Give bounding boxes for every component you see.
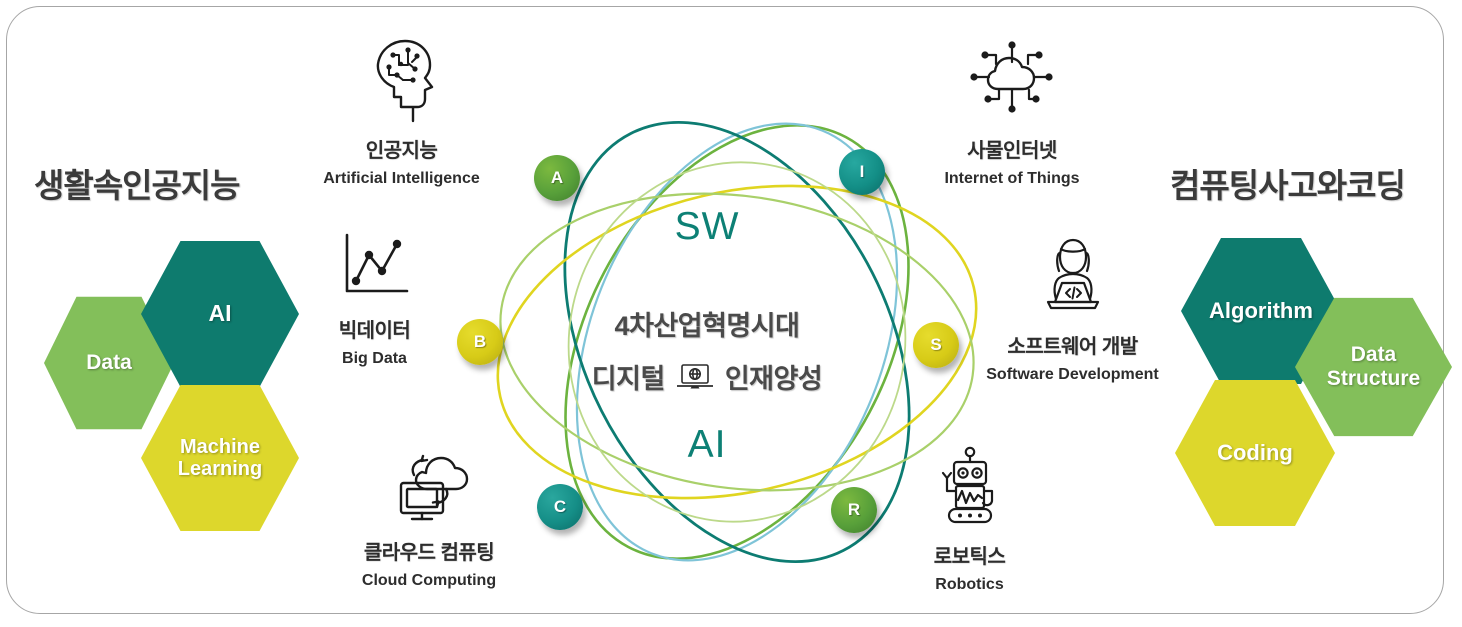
infographic-frame: 생활속인공지능 컴퓨팅사고와코딩 Data AI Machine Learnin… bbox=[6, 6, 1444, 614]
hexagon-algorithm-label: Algorithm bbox=[1209, 299, 1313, 324]
hexagon-machine-learning-label-1: Machine bbox=[178, 436, 262, 458]
keyword-big-data: 빅데이터 Big Data bbox=[307, 229, 442, 368]
cloud-monitor-icon bbox=[339, 445, 519, 530]
hexagon-machine-learning-label-2: Learning bbox=[178, 458, 262, 480]
hexagon-coding-label: Coding bbox=[1217, 441, 1293, 466]
keyword-cloud-label-en: Cloud Computing bbox=[339, 572, 519, 590]
orbit-node-i[interactable]: I bbox=[839, 149, 885, 195]
hexagon-data-label: Data bbox=[86, 351, 132, 375]
infographic-stage: 생활속인공지능 컴퓨팅사고와코딩 Data AI Machine Learnin… bbox=[7, 7, 1443, 613]
developer-laptop-icon bbox=[965, 235, 1180, 324]
keyword-sw-label-en: Software Development bbox=[965, 366, 1180, 384]
keyword-cloud-computing: 클라우드 컴퓨팅 Cloud Computing bbox=[339, 445, 519, 590]
keyword-iot-label-en: Internet of Things bbox=[917, 170, 1107, 188]
keyword-robot-label-ko: 로보틱스 bbox=[897, 540, 1042, 569]
center-headline-line2: 디지털 인재양성 bbox=[527, 357, 887, 396]
keyword-robotics: 로보틱스 Robotics bbox=[897, 445, 1042, 594]
orbit-node-c[interactable]: C bbox=[537, 484, 583, 530]
center-headline-line2-pre: 디지털 bbox=[592, 357, 665, 396]
hexagon-ai-label: AI bbox=[209, 301, 232, 327]
center-label-ai: AI bbox=[627, 423, 787, 467]
hexagon-data-structure-label-1: Data bbox=[1327, 343, 1420, 367]
keyword-bigdata-label-en: Big Data bbox=[307, 350, 442, 368]
head-circuit-icon bbox=[299, 37, 504, 128]
hexagon-coding: Coding bbox=[1175, 377, 1335, 529]
keyword-sw-label-ko: 소프트웨어 개발 bbox=[965, 330, 1180, 359]
center-headline-line1: 4차산업혁명시대 bbox=[537, 304, 877, 343]
page-title-right: 컴퓨팅사고와코딩 bbox=[1170, 159, 1405, 207]
orbit-node-a[interactable]: A bbox=[534, 155, 580, 201]
page-title-left: 생활속인공지능 bbox=[34, 159, 240, 207]
hexagon-data-structure-label-2: Structure bbox=[1327, 367, 1420, 391]
keyword-ai-label-en: Artificial Intelligence bbox=[299, 170, 504, 188]
orbit-node-b[interactable]: B bbox=[457, 319, 503, 365]
orbit-node-s[interactable]: S bbox=[913, 322, 959, 368]
line-chart-icon bbox=[307, 229, 442, 308]
keyword-internet-of-things: 사물인터넷 Internet of Things bbox=[917, 37, 1107, 188]
hexagon-machine-learning: Machine Learning bbox=[141, 382, 299, 534]
keyword-bigdata-label-ko: 빅데이터 bbox=[307, 314, 442, 343]
keyword-robot-label-en: Robotics bbox=[897, 576, 1042, 594]
keyword-cloud-label-ko: 클라우드 컴퓨팅 bbox=[339, 536, 519, 565]
keyword-software-development: 소프트웨어 개발 Software Development bbox=[965, 235, 1180, 384]
keyword-ai-label-ko: 인공지능 bbox=[299, 134, 504, 163]
cloud-network-icon bbox=[917, 37, 1107, 128]
keyword-iot-label-ko: 사물인터넷 bbox=[917, 134, 1107, 163]
orbit-node-r[interactable]: R bbox=[831, 487, 877, 533]
center-label-sw: SW bbox=[627, 205, 787, 249]
center-headline-line2-post: 인재양성 bbox=[725, 357, 822, 396]
robot-icon bbox=[897, 445, 1042, 534]
keyword-artificial-intelligence: 인공지능 Artificial Intelligence bbox=[299, 37, 504, 188]
laptop-globe-icon bbox=[675, 362, 715, 392]
